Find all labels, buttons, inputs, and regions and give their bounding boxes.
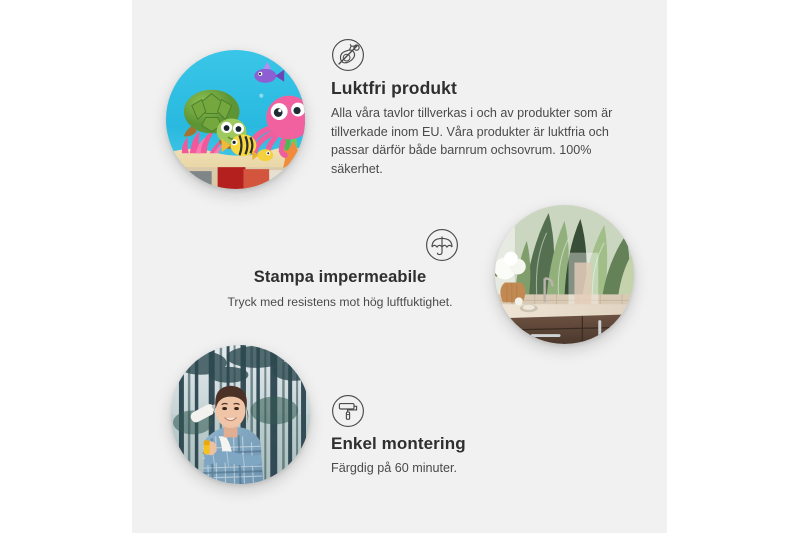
umbrella-icon-wrap <box>215 228 465 262</box>
feature-title: Luktfri produkt <box>331 78 621 99</box>
no-odour-spray-bottle-icon <box>331 38 621 72</box>
paint-roller-icon-wrap <box>331 394 581 428</box>
paint-roller-icon <box>331 394 365 428</box>
bathroom-artwork <box>495 205 634 344</box>
product-feature-banner: Luktfri produkt Alla våra tavlor tillver… <box>0 0 800 533</box>
painter-forest-wallpaper-photo <box>171 345 310 484</box>
bathroom-botanical-wallpaper-photo <box>495 205 634 344</box>
feature-block-easy-installation: Enkel montering Färgdig på 60 minuter. <box>331 394 581 478</box>
feature-block-waterproof-print: Stampa impermeabile Tryck med resistens … <box>215 228 465 311</box>
feature-title: Stampa impermeabile <box>215 268 465 288</box>
feature-body: Färgdig på 60 minuter. <box>331 459 581 478</box>
painter-artwork <box>171 345 310 484</box>
underwater-cartoon-photo <box>166 50 305 189</box>
feature-block-odour-free: Luktfri produkt Alla våra tavlor tillver… <box>331 38 621 179</box>
umbrella-icon <box>425 228 459 262</box>
feature-body: Alla våra tavlor tillverkas i och av pro… <box>331 104 621 179</box>
underwater-cartoon-artwork <box>166 50 305 189</box>
feature-body: Tryck med resistens mot hög luftfuktighe… <box>215 293 465 311</box>
feature-title: Enkel montering <box>331 434 581 454</box>
